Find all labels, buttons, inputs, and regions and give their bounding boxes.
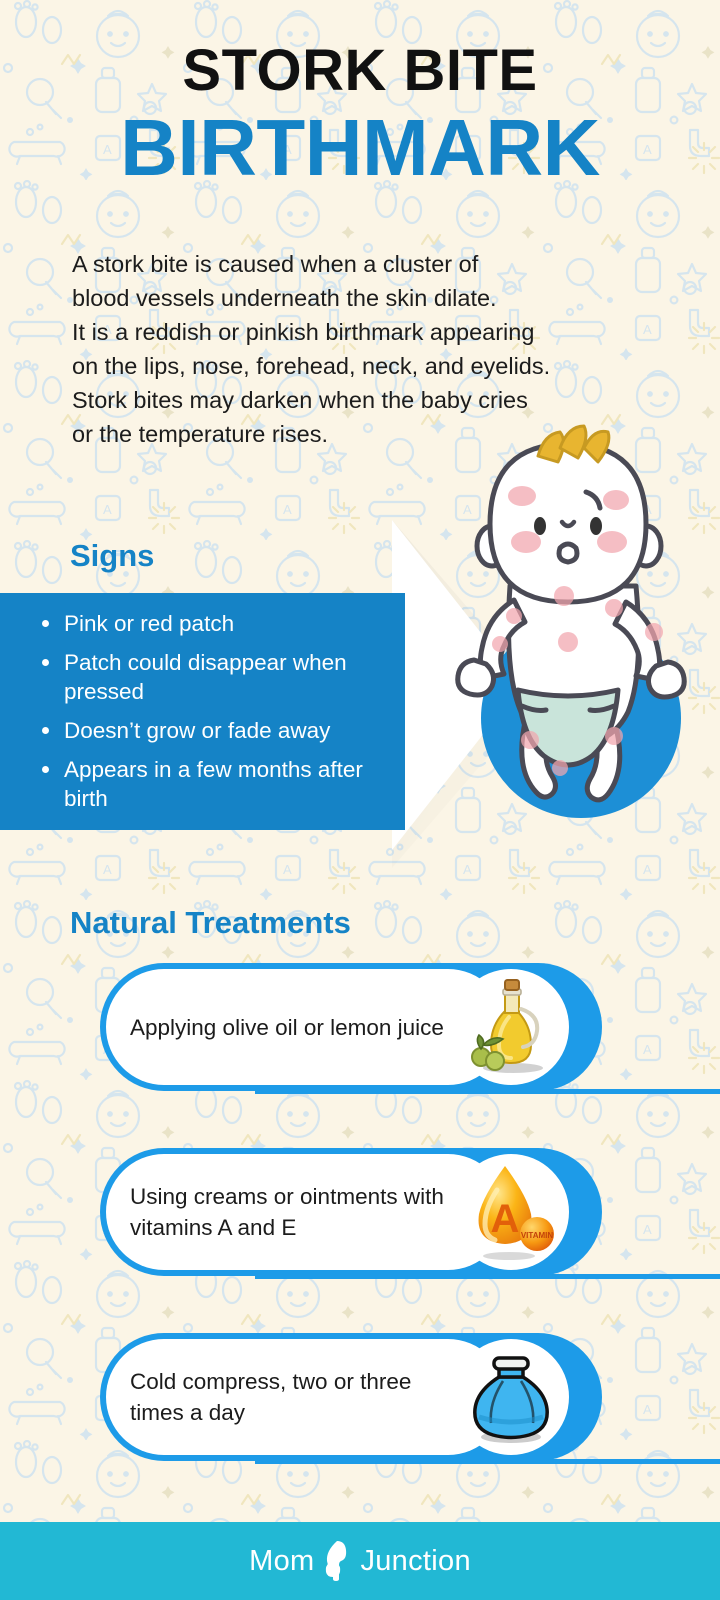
- list-item: Doesn’t grow or fade away: [38, 716, 387, 745]
- intro-line-2: blood vessels underneath the skin dilate…: [72, 281, 672, 315]
- brand-word-junction: Junction: [360, 1545, 470, 1578]
- infographic-stage: STORK BITE BIRTHMARK A stork bite is cau…: [0, 0, 720, 1600]
- natural-treatments-heading: Natural Treatments: [70, 905, 351, 941]
- title-line-secondary: BIRTHMARK: [0, 106, 720, 190]
- brand-word-mom: Mom: [249, 1545, 314, 1578]
- page-title: STORK BITE BIRTHMARK: [0, 42, 720, 190]
- signs-list: Pink or red patch Patch could disappear …: [0, 593, 405, 813]
- svg-text:VITAMIN: VITAMIN: [521, 1231, 554, 1240]
- crying-baby-with-birthmarks-illustration: [418, 418, 708, 838]
- treatment-label: Cold compress, two or three times a day: [130, 1333, 460, 1461]
- treatment-label: Applying olive oil or lemon juice: [130, 963, 460, 1091]
- signs-heading: Signs: [70, 538, 154, 574]
- cold-compress-bag-icon: [459, 1345, 563, 1449]
- list-item: Patch could disappear when pressed: [38, 648, 387, 706]
- footer-bar: Mom Junction: [0, 1522, 720, 1600]
- treatment-card: Cold compress, two or three times a day: [100, 1333, 602, 1461]
- list-item: Pink or red patch: [38, 609, 387, 638]
- intro-line-4: on the lips, nose, forehead, neck, and e…: [72, 349, 672, 383]
- title-line-primary: STORK BITE: [0, 42, 720, 100]
- treatment-card: Using creams or ointments with vitamins …: [100, 1148, 602, 1276]
- intro-line-1: A stork bite is caused when a cluster of: [72, 247, 672, 281]
- momjunction-logo: Mom Junction: [249, 1539, 471, 1583]
- list-item: Appears in a few months after birth: [38, 755, 387, 813]
- treatment-label: Using creams or ointments with vitamins …: [130, 1148, 460, 1276]
- intro-line-3: It is a reddish or pinkish birthmark app…: [72, 315, 672, 349]
- mother-and-baby-logo-icon: [315, 1537, 359, 1581]
- treatment-card: Applying olive oil or lemon juice: [100, 963, 602, 1091]
- vitamin-a-droplet-icon: A VITAMIN: [459, 1160, 563, 1264]
- signs-panel: Pink or red patch Patch could disappear …: [0, 593, 405, 830]
- olive-oil-bottle-icon: [459, 975, 563, 1079]
- svg-text:A: A: [491, 1197, 520, 1241]
- intro-line-5: Stork bites may darken when the baby cri…: [72, 383, 672, 417]
